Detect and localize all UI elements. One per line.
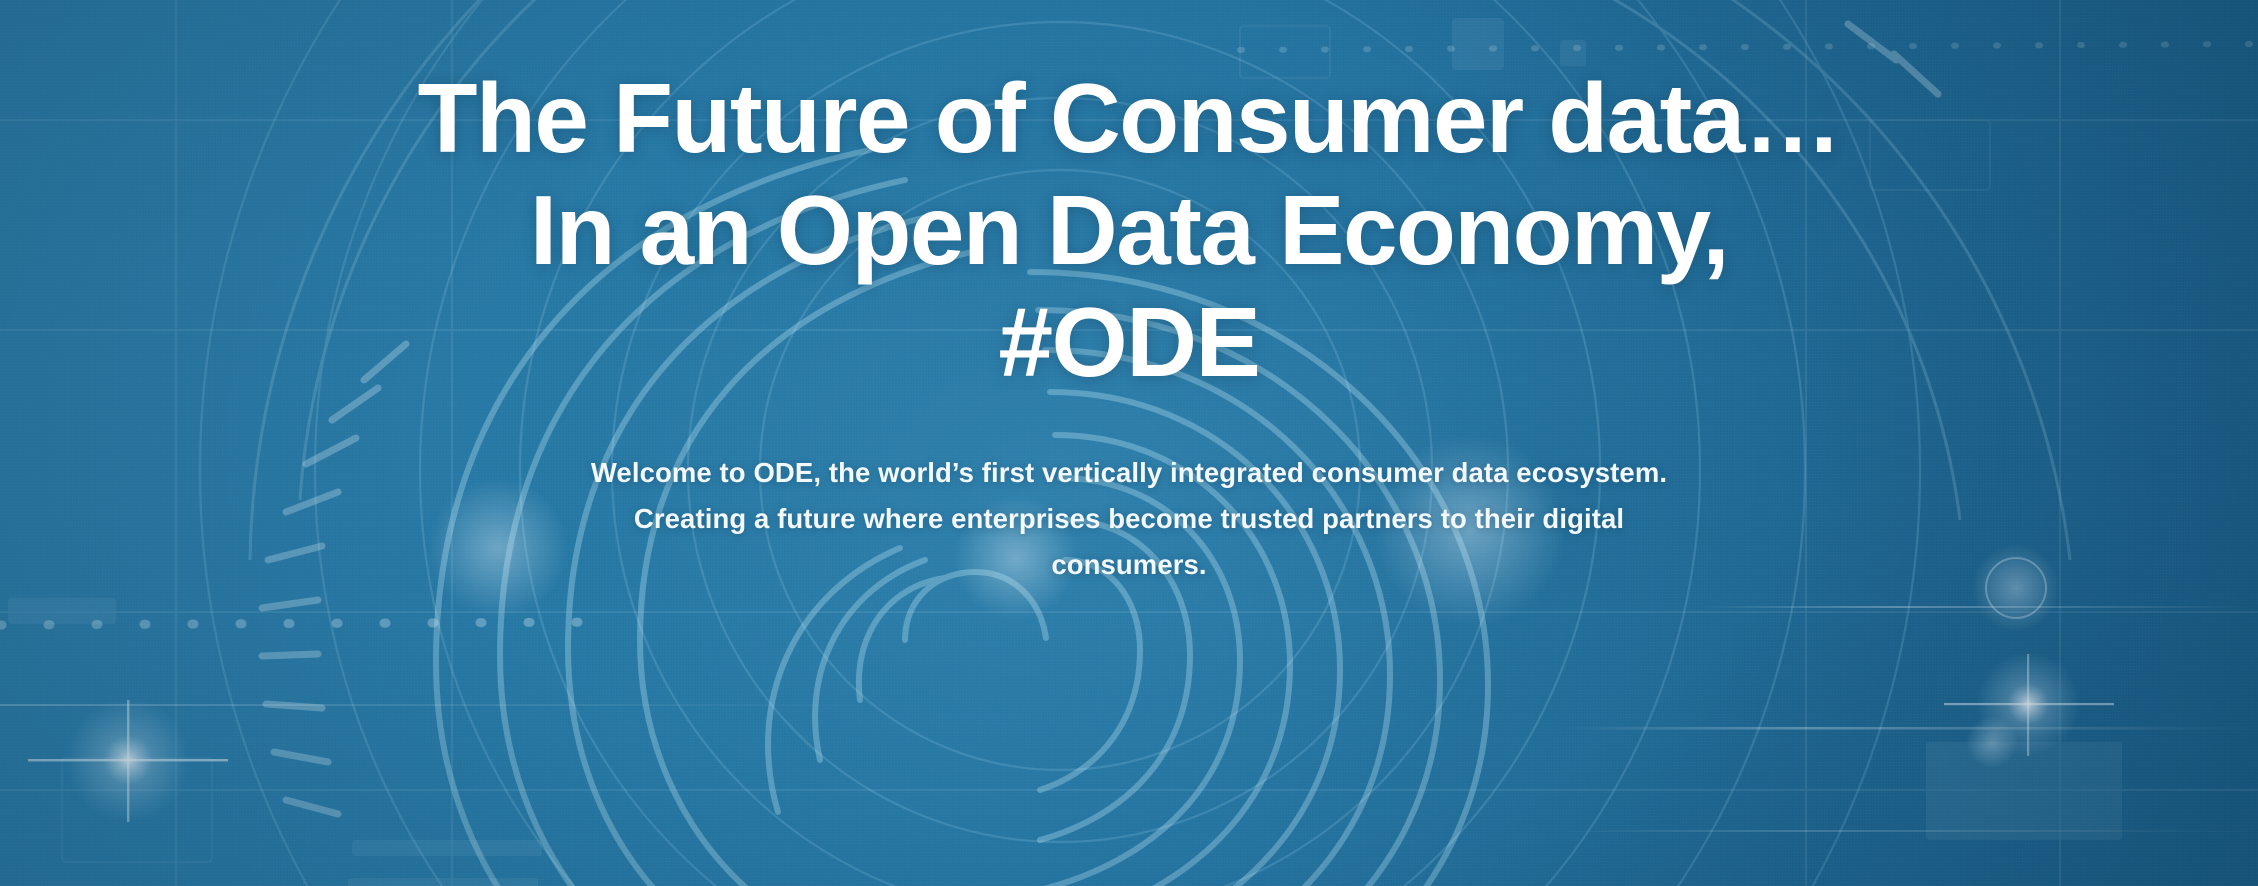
hero-subheadline: Welcome to ODE, the world’s first vertic…: [591, 450, 1667, 588]
subheadline-line-3: consumers.: [591, 542, 1667, 588]
hero-content: The Future of Consumer data… In an Open …: [0, 0, 2258, 886]
headline-line-2: In an Open Data Economy,: [418, 174, 1841, 286]
hero-banner: The Future of Consumer data… In an Open …: [0, 0, 2258, 886]
headline-line-3: #ODE: [418, 286, 1841, 398]
hero-headline: The Future of Consumer data… In an Open …: [418, 62, 1841, 398]
subheadline-line-1: Welcome to ODE, the world’s first vertic…: [591, 450, 1667, 496]
headline-line-1: The Future of Consumer data…: [418, 62, 1841, 174]
subheadline-line-2: Creating a future where enterprises beco…: [591, 496, 1667, 542]
